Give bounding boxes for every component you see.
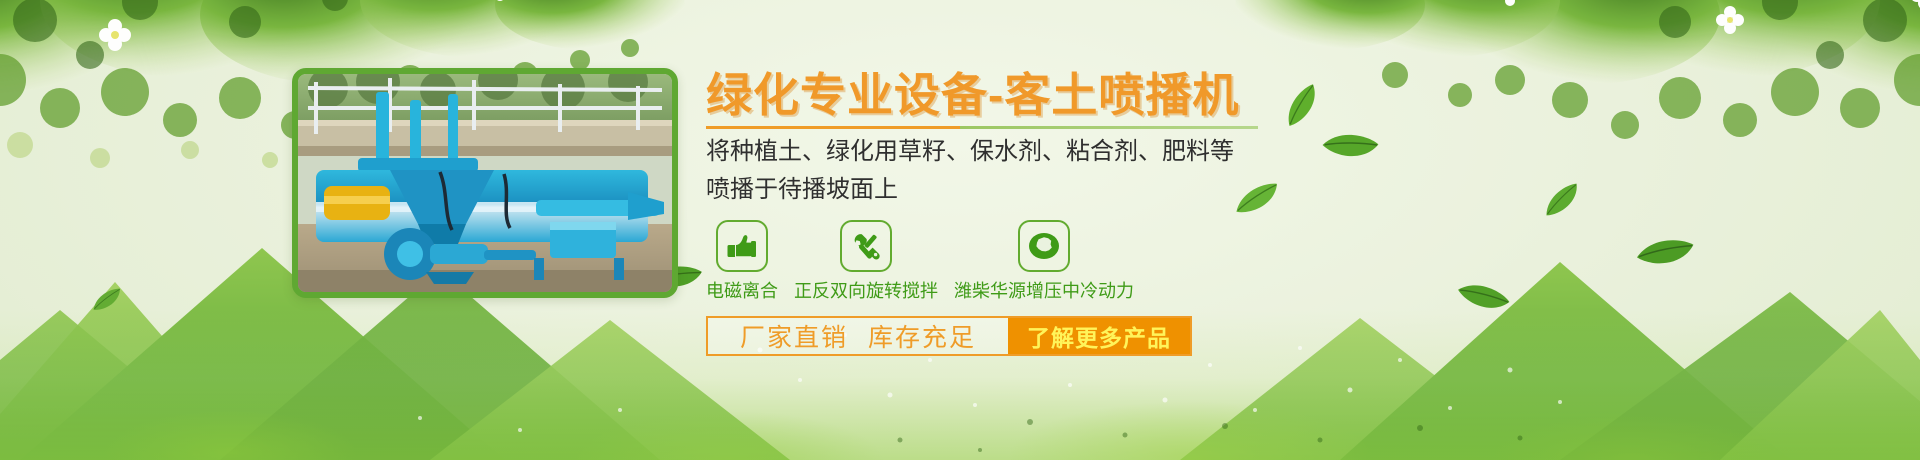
subtitle-line-1: 将种植土、绿化用草籽、保水剂、粘合剂、肥料等 — [706, 129, 1326, 167]
feature-list: 电磁离合 正 — [706, 220, 1326, 302]
thumbs-up-icon — [726, 232, 758, 260]
wrench-screwdriver-icon — [850, 230, 882, 262]
learn-more-button[interactable]: 了解更多产品 — [1008, 318, 1190, 354]
feature-item-weichai-power[interactable]: 潍柴华源增压中冷动力 — [954, 220, 1134, 302]
floating-leaf-icon — [1452, 269, 1514, 324]
feature-badge — [1018, 220, 1070, 272]
banner-content: 绿化专业设备-客土喷播机 将种植土、绿化用草籽、保水剂、粘合剂、肥料等 喷播于待… — [706, 68, 1326, 356]
feature-item-electromagnetic-clutch[interactable]: 电磁离合 — [706, 220, 778, 302]
product-photo-image — [298, 74, 672, 292]
cta-slogan-right: 库存充足 — [868, 318, 976, 354]
floating-leaf-icon — [88, 285, 127, 315]
feature-badge — [840, 220, 892, 272]
floating-leaf-icon — [1537, 180, 1588, 222]
feature-item-bidirectional-mixing[interactable]: 正反双向旋转搅拌 — [794, 220, 938, 302]
promo-banner: 绿化专业设备-客土喷播机 将种植土、绿化用草籽、保水剂、粘合剂、肥料等 喷播于待… — [0, 0, 1920, 460]
feature-label: 潍柴华源增压中冷动力 — [954, 280, 1134, 302]
feature-label: 电磁离合 — [706, 280, 778, 302]
cta-bar: 厂家直销 库存充足 了解更多产品 — [706, 316, 1192, 356]
product-photo[interactable] — [292, 68, 678, 298]
floating-leaf-icon — [1634, 232, 1696, 273]
page-title: 绿化专业设备-客土喷播机 — [706, 68, 1326, 122]
gear-icon — [1027, 231, 1061, 261]
floating-leaf-icon — [1318, 121, 1382, 170]
feature-badge — [716, 220, 768, 272]
cta-slogan: 厂家直销 库存充足 — [708, 318, 1008, 354]
cta-slogan-left: 厂家直销 — [740, 318, 848, 354]
subtitle-line-2: 喷播于待播坡面上 — [706, 167, 1326, 205]
feature-label: 正反双向旋转搅拌 — [794, 280, 938, 302]
